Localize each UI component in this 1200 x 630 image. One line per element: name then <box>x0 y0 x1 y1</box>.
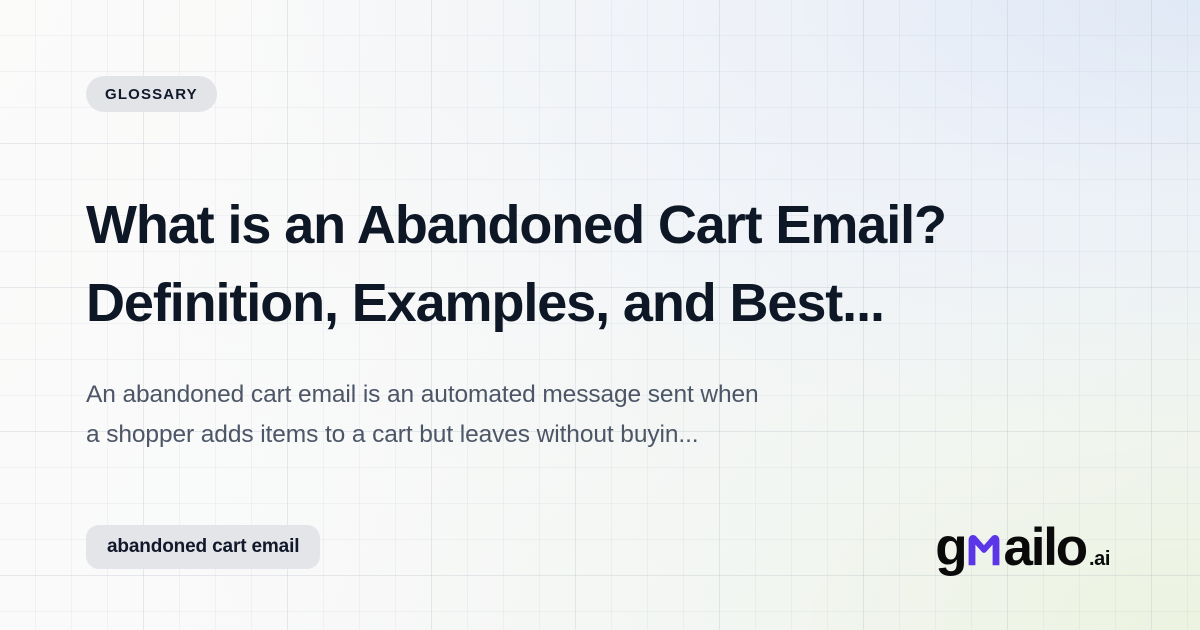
page-description: An abandoned cart email is an automated … <box>86 375 1036 455</box>
page-title: What is an Abandoned Cart Email? Definit… <box>86 186 1096 342</box>
page-description-line-2: a shopper adds items to a cart but leave… <box>86 415 1036 455</box>
brand-logo-text-after: ailo <box>1003 521 1086 574</box>
brand-logo: g ailo .ai <box>935 521 1114 574</box>
category-badge: GLOSSARY <box>86 76 217 112</box>
card-content: GLOSSARY What is an Abandoned Cart Email… <box>86 0 1114 630</box>
brand-logo-tld: .ai <box>1089 549 1110 569</box>
page-title-line-1: What is an Abandoned Cart Email? <box>86 186 1096 264</box>
page-title-line-2: Definition, Examples, and Best... <box>86 264 1096 342</box>
card-footer: abandoned cart email g ailo .ai <box>86 524 1114 570</box>
category-badge-label: GLOSSARY <box>105 86 198 103</box>
keyword-tag: abandoned cart email <box>86 525 320 569</box>
envelope-m-icon <box>966 533 1002 566</box>
social-share-card: GLOSSARY What is an Abandoned Cart Email… <box>0 0 1200 630</box>
page-description-line-1: An abandoned cart email is an automated … <box>86 375 1036 415</box>
brand-logo-text-before: g <box>935 521 965 574</box>
keyword-tag-label: abandoned cart email <box>107 536 299 558</box>
